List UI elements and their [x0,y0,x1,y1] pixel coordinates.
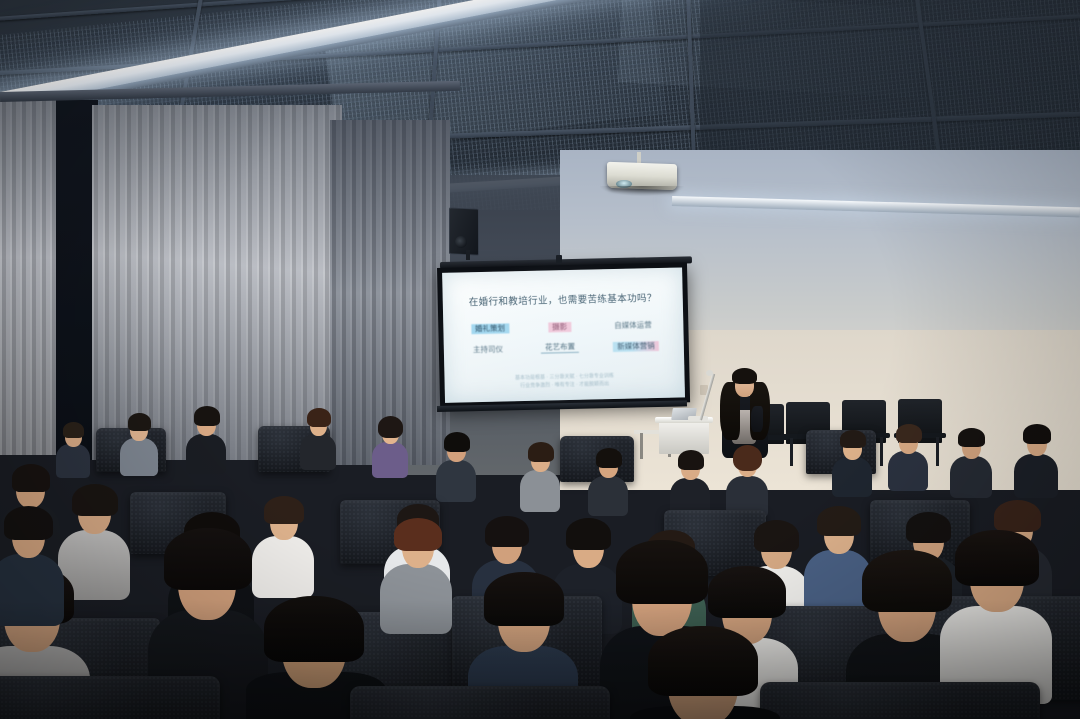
slide-chip: 花艺布置 [541,342,579,354]
person-hair [264,596,364,662]
person-body [186,434,226,474]
person-hair [12,464,50,492]
person-hair [484,572,564,626]
person-hair [596,448,622,468]
person-body [588,476,628,516]
audience-person [670,452,710,514]
person-hair [72,484,118,516]
audience-person [726,448,768,512]
audience-person [436,434,476,496]
person-body [436,460,476,502]
screenshot-root: 在婚行和教培行业，也需要苦练基本功吗？ 婚礼策划 摄影 自媒体运营 主持司仪 花… [0,0,1080,719]
person-body [380,564,452,634]
presenter-hair-top [732,368,757,384]
slide-surface: 在婚行和教培行业，也需要苦练基本功吗？ 婚礼策划 摄影 自媒体运营 主持司仪 花… [442,267,685,402]
person-hair [994,500,1041,532]
person-hair [840,430,866,448]
person-hair [194,406,220,426]
person-body [0,554,64,626]
person-hair [862,550,952,612]
person-hair [394,518,442,551]
audience-person [186,408,226,470]
person-body [300,434,336,470]
person-hair [378,416,403,438]
speaker-cone-icon [455,236,467,248]
person-hair [264,496,304,524]
projector-shadow [600,186,684,196]
audience-person [832,432,872,492]
person-hair [1023,424,1051,444]
audience-person [380,518,452,626]
person-body [520,470,560,512]
person-body [372,442,408,478]
person-hair [444,432,470,452]
person-hair [485,516,529,547]
audience-person [1014,426,1058,492]
wall-speaker [449,207,479,256]
person-body [1014,454,1058,498]
person-hair [678,450,704,470]
audience-person [56,422,90,474]
audience-seat [760,682,1040,719]
person-hair [896,424,922,443]
audience-person [120,414,158,472]
slide-chip: 婚礼策划 [471,323,509,334]
slide-footer: 基本功是根基 · 三分靠天赋 · 七分靠专业训练 行业竞争激烈 · 唯有专注 ·… [456,372,672,392]
slide-chip: 摄影 [548,322,571,333]
person-hair [958,428,985,447]
slide-chip: 自媒体运营 [610,320,656,331]
audience-person [588,450,628,510]
audience-area [0,400,1080,719]
speaker-bracket [466,250,470,260]
person-body [832,457,872,497]
person-hair [128,413,151,431]
slide-chip: 主持司仪 [469,344,507,355]
projection-screen: 在婚行和教培行业，也需要苦练基本功吗？ 婚礼策划 摄影 自媒体运营 主持司仪 花… [437,262,690,408]
audience-seat [0,676,220,719]
audience-person [0,506,64,618]
person-hair [63,422,84,438]
person-body [56,444,90,478]
screen-mount-knob [556,255,562,263]
microphone-head-icon [706,370,713,376]
person-body [888,451,928,491]
person-hair [648,626,758,696]
slide-chip: 新媒体营销 [613,340,659,351]
person-hair [955,530,1039,586]
slide-title: 在婚行和教培行业，也需要苦练基本功吗？ [443,289,683,308]
person-hair [4,506,53,540]
audience-person [520,444,560,506]
person-hair [817,506,861,536]
person-body [950,456,992,498]
person-body [120,438,158,476]
person-hair [754,520,799,552]
person-hair [708,566,786,618]
person-hair [307,408,331,427]
slide-chip-row-1: 婚礼策划 摄影 自媒体运营 [451,320,675,335]
audience-person [372,418,408,474]
person-hair [528,442,554,462]
audience-person [630,626,780,719]
audience-person [940,530,1052,700]
audience-person [300,410,336,466]
person-hair [164,528,252,590]
audience-seat [350,686,610,719]
audience-person [888,426,928,486]
audience-person [950,430,992,492]
slide-chip-row-2: 主持司仪 花艺布置 新媒体营销 [452,340,676,356]
person-hair [733,445,762,471]
